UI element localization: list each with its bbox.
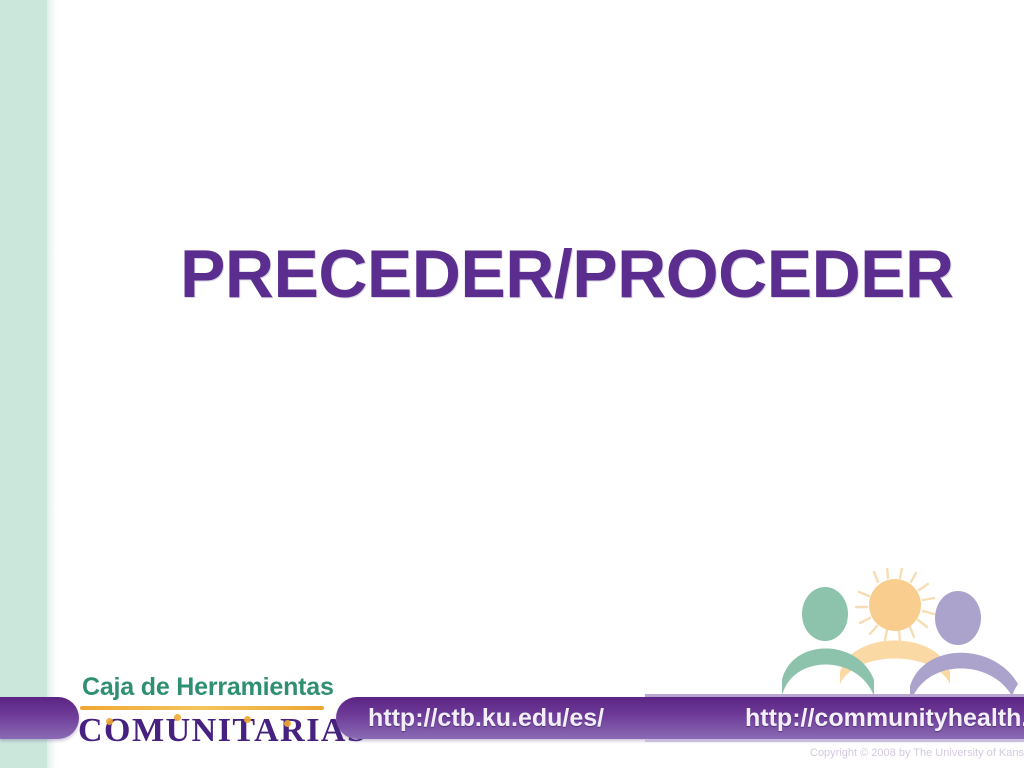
ctb-brand-line2: COMUNITARIAS [78,710,367,752]
people-and-sun-logo [782,568,1024,698]
sparkle-icon [284,720,291,727]
people-and-sun-icon [782,568,1024,698]
page-title: PRECEDER/PROCEDER [180,232,940,316]
ctb-brand-logo: Caja de Herramientas COMUNITARIAS [78,670,330,756]
link-communityhealth-url[interactable]: http://communityhealth.ku.edu/ [745,703,1024,733]
sparkle-icon [174,714,181,721]
footer-band-bottom-rule [645,739,1024,742]
link-ctb-url[interactable]: http://ctb.ku.edu/es/ [368,703,604,733]
sparkle-icon [244,716,251,723]
left-accent-strip [0,0,47,768]
footer-band-left [0,697,79,739]
sparkle-icon [106,718,113,725]
left-accent-strip-fade [47,0,56,768]
slide-canvas: PRECEDER/PROCEDER [0,0,1024,768]
copyright-text: Copyright © 2008 by The University of Ka… [810,746,1024,760]
ctb-brand-line1: Caja de Herramientas [82,672,334,702]
